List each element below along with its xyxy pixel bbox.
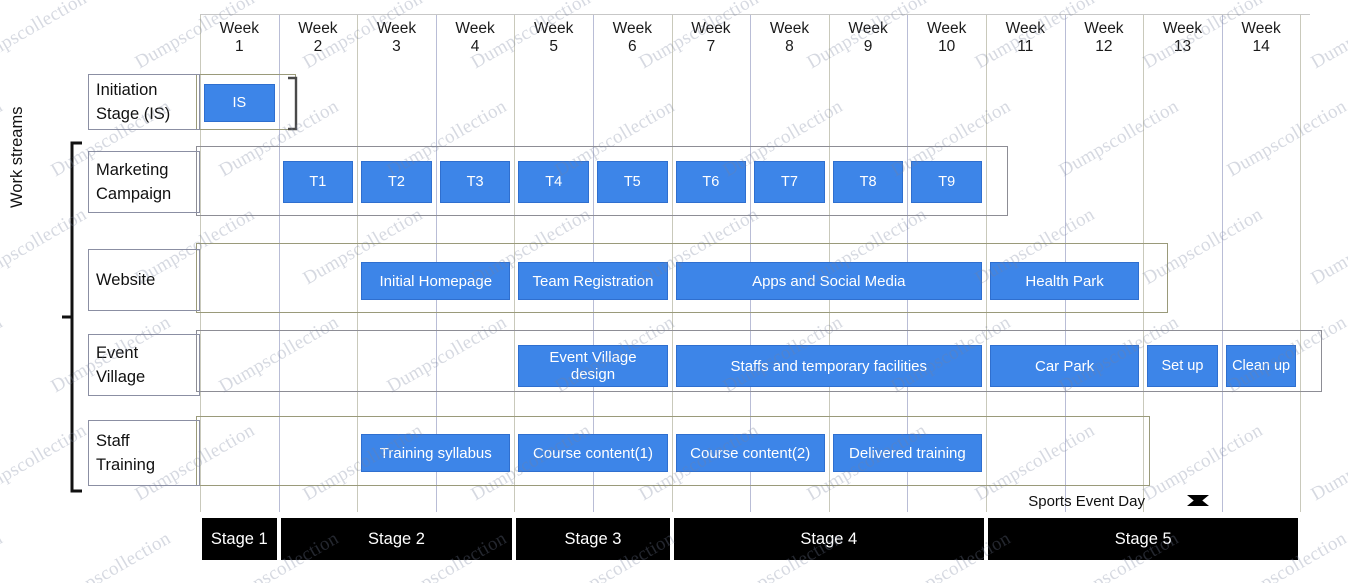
week-header-number: 2 (279, 38, 358, 56)
week-header-8: Week8 (750, 20, 829, 56)
task-bar[interactable]: Staffs and temporary facilities (676, 345, 982, 387)
week-header-number: 12 (1065, 38, 1144, 56)
task-bar[interactable]: Apps and Social Media (676, 262, 982, 300)
week-header-word: Week (829, 20, 908, 38)
week-header-word: Week (436, 20, 515, 38)
task-bar[interactable]: Clean up (1226, 345, 1297, 387)
week-header-9: Week9 (829, 20, 908, 56)
week-header-11: Week11 (986, 20, 1065, 56)
week-header-10: Week10 (907, 20, 986, 56)
task-bar[interactable]: Initial Homepage (361, 262, 510, 300)
week-header-word: Week (672, 20, 751, 38)
week-header-word: Week (1065, 20, 1144, 38)
task-bar[interactable]: T5 (597, 161, 668, 203)
row-label-website: Website (96, 268, 200, 292)
work-streams-axis-label: Work streams (8, 107, 27, 208)
week-header-number: 13 (1143, 38, 1222, 56)
week-header-12: Week12 (1065, 20, 1144, 56)
week-header-number: 8 (750, 38, 829, 56)
week-header-number: 10 (907, 38, 986, 56)
week-header-6: Week6 (593, 20, 672, 56)
week-header-5: Week5 (514, 20, 593, 56)
stage-block-5[interactable]: Stage 5 (988, 518, 1298, 560)
week-header-word: Week (986, 20, 1065, 38)
week-header-number: 9 (829, 38, 908, 56)
task-bar[interactable]: T4 (518, 161, 589, 203)
grid-line (1300, 14, 1301, 512)
week-header-word: Week (200, 20, 279, 38)
task-bar[interactable]: T2 (361, 161, 432, 203)
week-header-number: 4 (436, 38, 515, 56)
task-bar[interactable]: T9 (911, 161, 982, 203)
milestone-label: Sports Event Day (1028, 493, 1145, 510)
task-bar[interactable]: T1 (283, 161, 354, 203)
milestone-diamond-icon-lower (1187, 495, 1209, 515)
week-header-word: Week (357, 20, 436, 38)
swimlane-staff_training (196, 416, 1150, 486)
row-label-marketing: Marketing Campaign (96, 158, 200, 206)
task-bar[interactable]: Event Village design (518, 345, 667, 387)
week-header-13: Week13 (1143, 20, 1222, 56)
task-bar[interactable]: T7 (754, 161, 825, 203)
task-bar[interactable]: Car Park (990, 345, 1139, 387)
row-label-staff_training: Staff Training (96, 429, 200, 477)
task-bar[interactable]: Training syllabus (361, 434, 510, 472)
week-header-word: Week (593, 20, 672, 38)
header-rule (200, 14, 1310, 15)
week-header-word: Week (279, 20, 358, 38)
row-label-initiation: Initiation Stage (IS) (96, 78, 200, 126)
row-label-event_village: Event Village (96, 341, 200, 389)
task-bar[interactable]: Team Registration (518, 262, 667, 300)
stage-block-2[interactable]: Stage 2 (281, 518, 513, 560)
week-header-number: 5 (514, 38, 593, 56)
task-bar[interactable]: T3 (440, 161, 511, 203)
week-header-word: Week (514, 20, 593, 38)
task-bar[interactable]: Set up (1147, 345, 1218, 387)
week-header-word: Week (750, 20, 829, 38)
week-header-number: 11 (986, 38, 1065, 56)
task-bar[interactable]: Delivered training (833, 434, 982, 472)
grid-line (1222, 14, 1223, 512)
stage-block-3[interactable]: Stage 3 (516, 518, 669, 560)
week-header-number: 7 (672, 38, 751, 56)
gantt-chart: Week1Week2Week3Week4Week5Week6Week7Week8… (0, 0, 1348, 583)
task-bar[interactable]: T8 (833, 161, 904, 203)
task-bar[interactable]: Course content(2) (676, 434, 825, 472)
week-header-word: Week (907, 20, 986, 38)
week-header-word: Week (1222, 20, 1301, 38)
stage-block-1[interactable]: Stage 1 (202, 518, 277, 560)
week-header-number: 3 (357, 38, 436, 56)
week-header-3: Week3 (357, 20, 436, 56)
task-bar[interactable]: Course content(1) (518, 434, 667, 472)
week-header-7: Week7 (672, 20, 751, 56)
week-header-4: Week4 (436, 20, 515, 56)
week-header-14: Week14 (1222, 20, 1301, 56)
task-bar[interactable]: IS (204, 84, 275, 122)
stage-block-4[interactable]: Stage 4 (674, 518, 984, 560)
task-bar[interactable]: Health Park (990, 262, 1139, 300)
week-header-1: Week1 (200, 20, 279, 56)
week-header-word: Week (1143, 20, 1222, 38)
week-header-number: 14 (1222, 38, 1301, 56)
week-header-number: 6 (593, 38, 672, 56)
task-bar[interactable]: T6 (676, 161, 747, 203)
week-header-number: 1 (200, 38, 279, 56)
week-header-2: Week2 (279, 20, 358, 56)
